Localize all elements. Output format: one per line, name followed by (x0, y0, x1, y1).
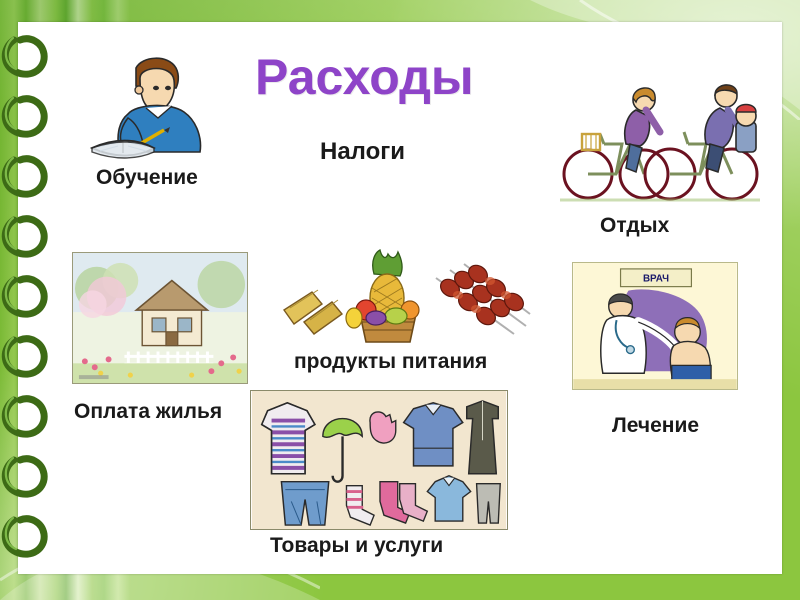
family-cycling-icon (560, 48, 760, 208)
label-food: продукты питания (294, 350, 487, 374)
doctor-sign-text: ВРАЧ (643, 274, 669, 285)
label-taxes: Налоги (320, 138, 405, 166)
slide-background: Расходы Налоги Обучение Отдых продукты п… (0, 0, 800, 600)
page-title: Расходы (255, 48, 474, 106)
cottage-house-icon (72, 252, 248, 384)
label-healthcare: Лечение (612, 414, 699, 438)
doctor-examining-child-icon: ВРАЧ (572, 262, 738, 390)
label-housing: Оплата жилья (74, 400, 222, 424)
label-leisure: Отдых (600, 214, 669, 238)
fruits-and-meat-icon (278, 248, 532, 348)
clothing-items-icon (250, 390, 508, 530)
label-education: Обучение (96, 166, 198, 190)
student-reading-icon (84, 52, 224, 170)
label-goods-services: Товары и услуги (270, 534, 443, 558)
